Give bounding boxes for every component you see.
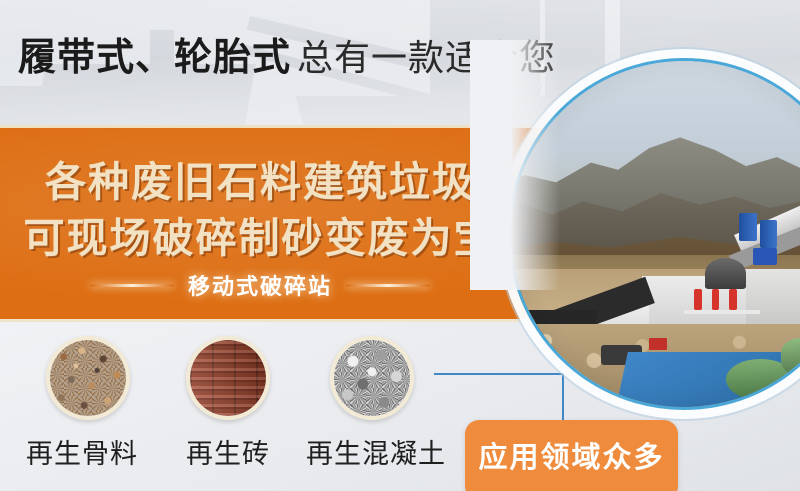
product-thumbnail-brick[interactable]	[186, 336, 270, 420]
headline-bold-text: 履带式、轮胎式	[18, 37, 291, 79]
recycled-concrete-photo	[334, 340, 410, 416]
application-fields-badge[interactable]: 应用领域众多	[465, 420, 678, 491]
band-line-1: 各种废旧石料建筑垃圾	[0, 148, 520, 208]
product-label-aggregate: 再生骨料	[26, 432, 138, 471]
promotional-banner: 履带式、轮胎式总有一款适合您 各种废旧石料建筑垃圾 可现场破碎制砂变废为宝 移动…	[0, 0, 800, 491]
band-subtitle-row: 移动式破碎站	[0, 268, 520, 302]
headline: 履带式、轮胎式总有一款适合您	[18, 32, 578, 84]
application-fields-badge-label: 应用领域众多	[465, 434, 678, 476]
product-thumbnail-aggregate[interactable]	[46, 336, 130, 420]
recycled-brick-photo	[190, 340, 266, 416]
band-subtitle: 移动式破碎站	[188, 269, 332, 301]
product-label-concrete: 再生混凝土	[306, 432, 446, 471]
glow-line-left-icon	[90, 284, 174, 287]
band-line-2: 可现场破碎制砂变废为宝	[0, 204, 520, 264]
glow-line-right-icon	[346, 284, 430, 287]
product-thumbnail-concrete[interactable]	[330, 336, 414, 420]
product-label-brick: 再生砖	[186, 432, 270, 471]
hero-photo-circle	[508, 58, 800, 410]
recycled-aggregate-photo	[50, 340, 126, 416]
